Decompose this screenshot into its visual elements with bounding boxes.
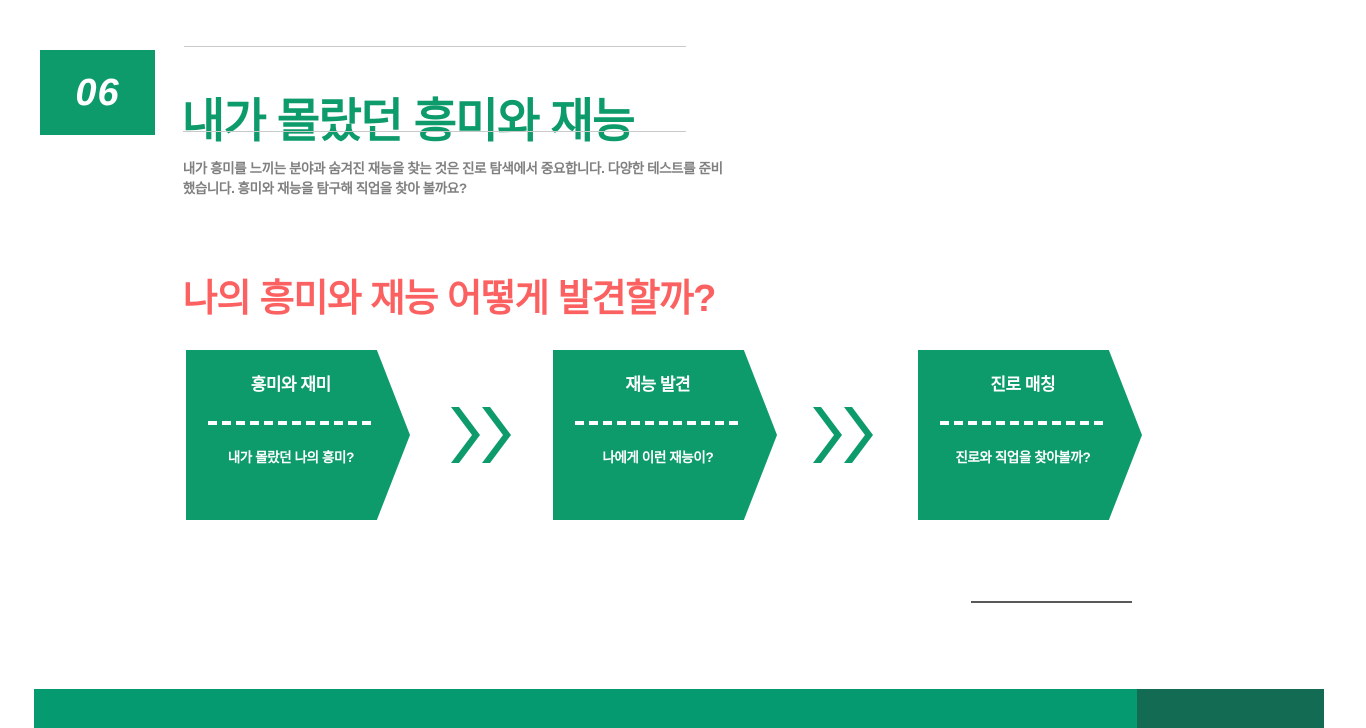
footnote-rule [971,601,1132,603]
bottom-bar-left-segment [34,689,1137,728]
flow-step-title: 재능 발견 [575,376,741,393]
bottom-bar [34,689,1324,728]
section-number-label: 06 [75,74,119,112]
flow-step-divider [208,421,374,425]
bottom-bar-right-segment [1137,689,1324,728]
page-title: 내가 몰랐던 흥미와 재능 [182,83,882,157]
question-heading: 나의 흥미와 재능 어떻게 발견할까? [183,277,715,323]
flow-step-divider [575,421,741,425]
page-description: 내가 흥미를 느끼는 분야과 숨겨진 재능을 찾는 것은 진로 탐색에서 중요합… [183,159,723,201]
slide-header: 06 내가 몰랐던 흥미와 재능 내가 흥미를 느끼는 분야과 숨겨진 재능을 … [0,0,1366,210]
title-rule-bottom [183,131,686,132]
flow-step-title: 진로 매칭 [940,376,1106,393]
flow-step-title: 흥미와 재미 [208,376,374,393]
title-rule-top [184,46,686,47]
process-flow: 흥미와 재미 내가 몰랐던 나의 흥미? 재능 발견 나에게 이런 재능이? 진… [0,350,1366,522]
flow-step-subtitle: 나에게 이런 재능이? [575,451,741,465]
flow-step-card-1: 흥미와 재미 내가 몰랐던 나의 흥미? [186,350,410,520]
flow-step-divider [940,421,1106,425]
flow-step-card-3: 진로 매칭 진로와 직업을 찾아볼까? [918,350,1142,520]
flow-step-subtitle: 진로와 직업을 찾아볼까? [940,451,1106,465]
section-number-badge: 06 [40,50,155,135]
flow-step-subtitle: 내가 몰랐던 나의 흥미? [208,451,374,465]
flow-step-card-2: 재능 발견 나에게 이런 재능이? [553,350,777,520]
double-chevron-right-icon [811,403,875,467]
double-chevron-right-icon [449,403,513,467]
